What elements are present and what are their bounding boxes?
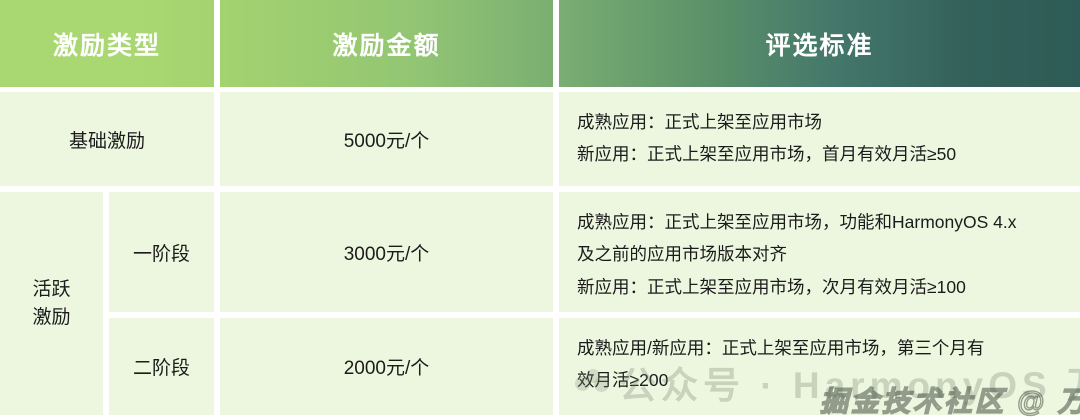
cell-criteria-row3: 成熟应用/新应用：正式上架至应用市场，第三个月有 效月活≥200 (559, 318, 1080, 415)
cell-stage-row2-label: 一阶段 (133, 239, 190, 266)
criteria-line: 新应用：正式上架至应用市场，次月有效月活≥100 (577, 271, 1062, 303)
criteria-line: 及之前的应用市场版本对齐 (577, 238, 1062, 270)
cell-incentive-amount-row1: 5000元/个 (220, 92, 553, 186)
cell-incentive-amount-row3-value: 2000元/个 (344, 353, 430, 380)
table-row: 基础激励 (0, 92, 214, 186)
cell-incentive-amount-row2: 3000元/个 (220, 192, 553, 312)
cell-incentive-amount-row2-value: 3000元/个 (344, 239, 430, 266)
cell-incentive-type-active-line2: 激励 (32, 304, 70, 332)
column-header-incentive-type-label: 激励类型 (53, 26, 161, 62)
cell-incentive-amount-row3: 2000元/个 (220, 318, 553, 415)
criteria-line: 成熟应用：正式上架至应用市场 (577, 106, 1062, 138)
cell-stage-row2: 一阶段 (109, 192, 214, 312)
column-header-incentive-type: 激励类型 (0, 0, 214, 87)
column-header-incentive-amount-label: 激励金额 (332, 26, 440, 62)
table-body: 基础激励 5000元/个 成熟应用：正式上架至应用市场 新应用：正式上架至应用市… (0, 92, 1080, 415)
criteria-line: 成熟应用：正式上架至应用市场，功能和HarmonyOS 4.x (577, 206, 1062, 238)
incentive-table: 激励类型 激励金额 评选标准 基础激励 5000元/个 成熟应用：正式上架至应用… (0, 0, 1080, 415)
cell-stage-row3-label: 二阶段 (133, 353, 190, 380)
cell-criteria-row2: 成熟应用：正式上架至应用市场，功能和HarmonyOS 4.x 及之前的应用市场… (559, 192, 1080, 312)
cell-stage-row3: 二阶段 (109, 318, 214, 415)
criteria-line: 新应用：正式上架至应用市场，首月有效月活≥50 (577, 138, 1062, 170)
cell-criteria-row1: 成熟应用：正式上架至应用市场 新应用：正式上架至应用市场，首月有效月活≥50 (559, 92, 1080, 186)
criteria-line: 成熟应用/新应用：正式上架至应用市场，第三个月有 (577, 332, 1062, 364)
cell-incentive-type-row1: 基础激励 (69, 126, 145, 153)
cell-incentive-amount-row1-value: 5000元/个 (344, 126, 430, 153)
column-header-selection-criteria-label: 评选标准 (765, 26, 873, 62)
criteria-line: 效月活≥200 (577, 364, 1062, 396)
table-header-row: 激励类型 激励金额 评选标准 (0, 0, 1080, 87)
cell-incentive-type-active-line1: 活跃 (32, 276, 70, 304)
column-header-incentive-amount: 激励金额 (220, 0, 553, 87)
column-header-selection-criteria: 评选标准 (559, 0, 1080, 87)
cell-incentive-type-active-merged: 活跃 激励 (0, 192, 103, 415)
